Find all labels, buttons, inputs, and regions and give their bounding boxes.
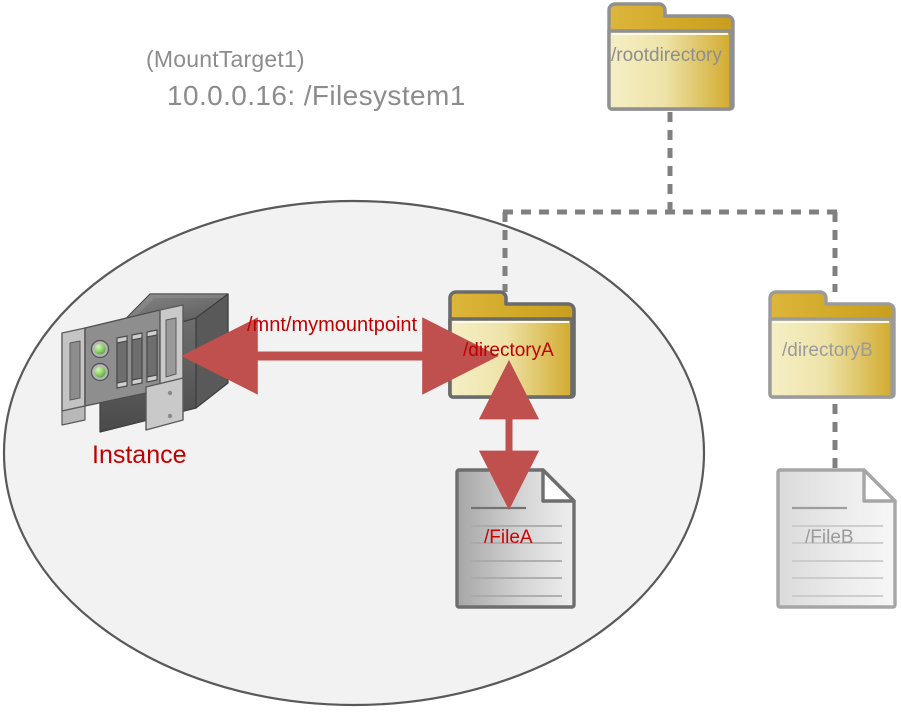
folder-directorya[interactable] bbox=[450, 292, 574, 397]
region-ellipse bbox=[4, 201, 704, 705]
file-filea[interactable] bbox=[457, 470, 574, 607]
folder-directoryb[interactable] bbox=[770, 292, 894, 397]
diagram-canvas: (MountTarget1) 10.0.0.16: /Filesystem1 /… bbox=[0, 0, 901, 713]
file-fileb[interactable] bbox=[778, 470, 895, 607]
folder-rootdirectory[interactable] bbox=[609, 4, 733, 109]
diagram-graphics bbox=[0, 0, 901, 713]
